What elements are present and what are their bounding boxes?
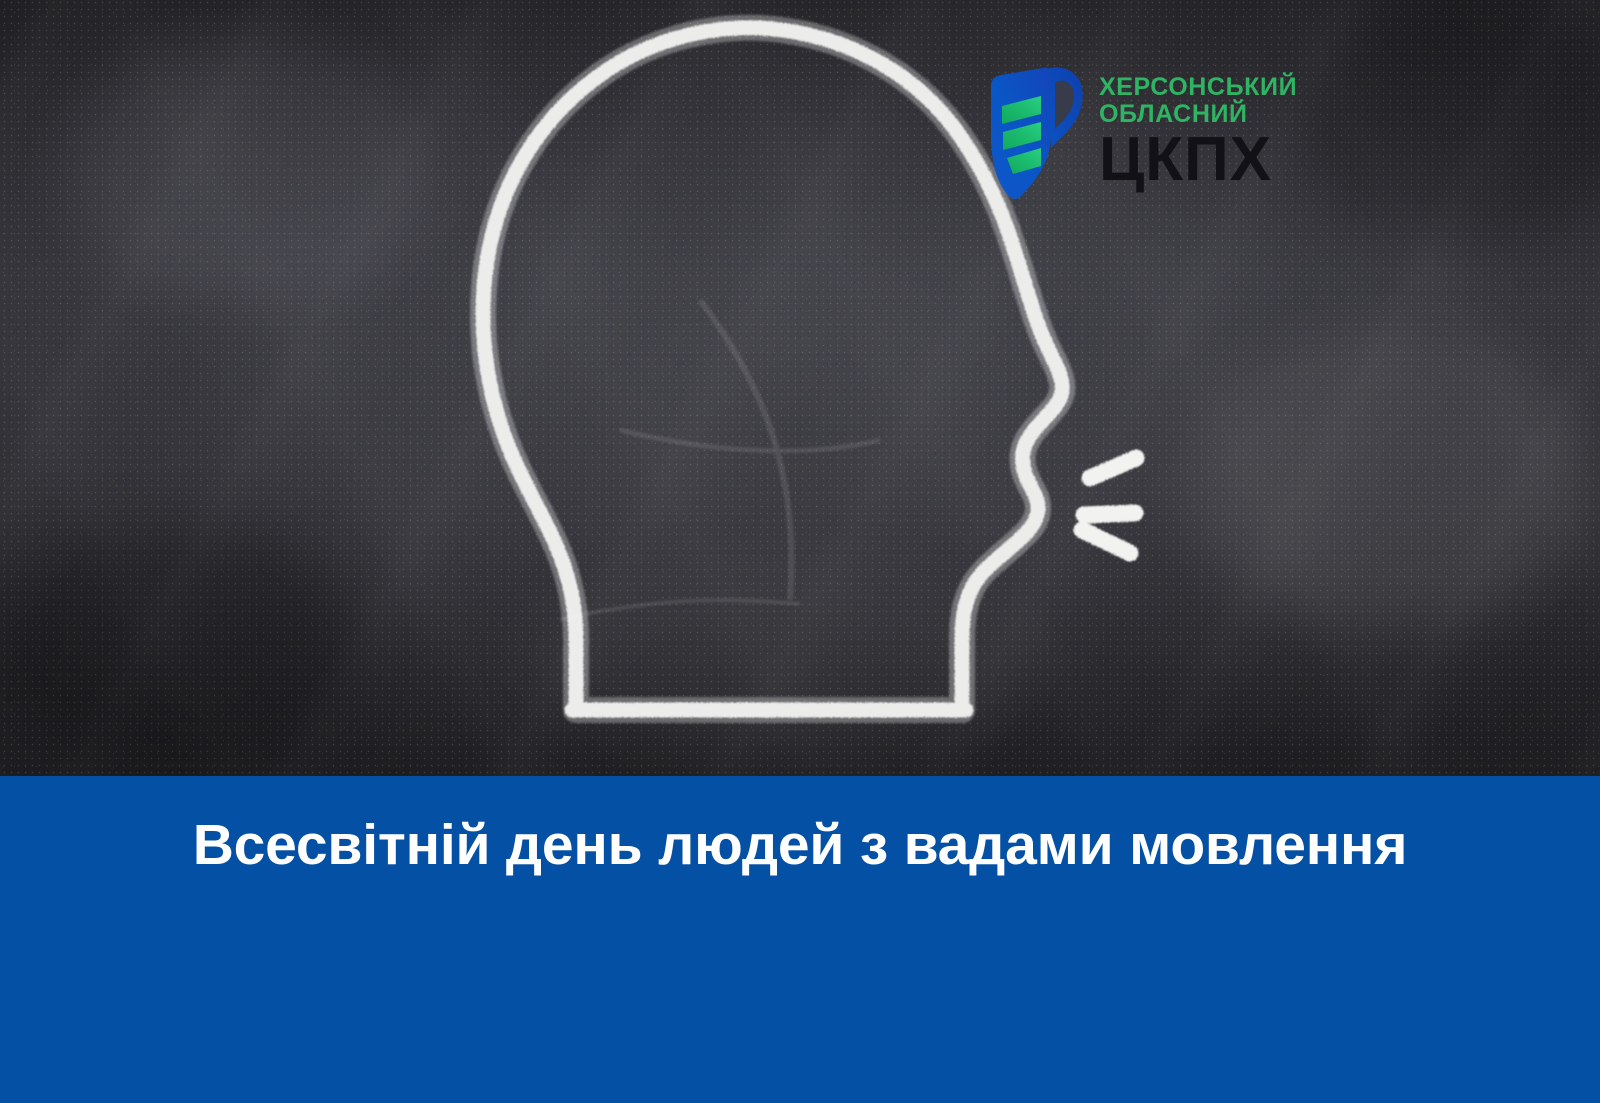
logo-line-1: ХЕРСОНСЬКИЙ — [1099, 74, 1297, 101]
banner-title-text: Всесвітній день людей з вадами мовлення — [0, 776, 1600, 878]
logo-line-2: ОБЛАСНИЙ — [1099, 101, 1297, 128]
shield-heart-logo-icon — [985, 60, 1085, 205]
logo-wordmark: ХЕРСОНСЬКИЙ ОБЛАСНИЙ ЦКПХ — [1099, 74, 1297, 191]
logo-abbreviation: ЦКПХ — [1099, 130, 1297, 191]
poster-root: ХЕРСОНСЬКИЙ ОБЛАСНИЙ ЦКПХ Всесвітній ден… — [0, 0, 1600, 1103]
chalk-head-illustration — [0, 0, 1600, 776]
organization-logo[interactable]: ХЕРСОНСЬКИЙ ОБЛАСНИЙ ЦКПХ — [985, 55, 1305, 210]
title-banner: Всесвітній день людей з вадами мовлення — [0, 776, 1600, 1103]
